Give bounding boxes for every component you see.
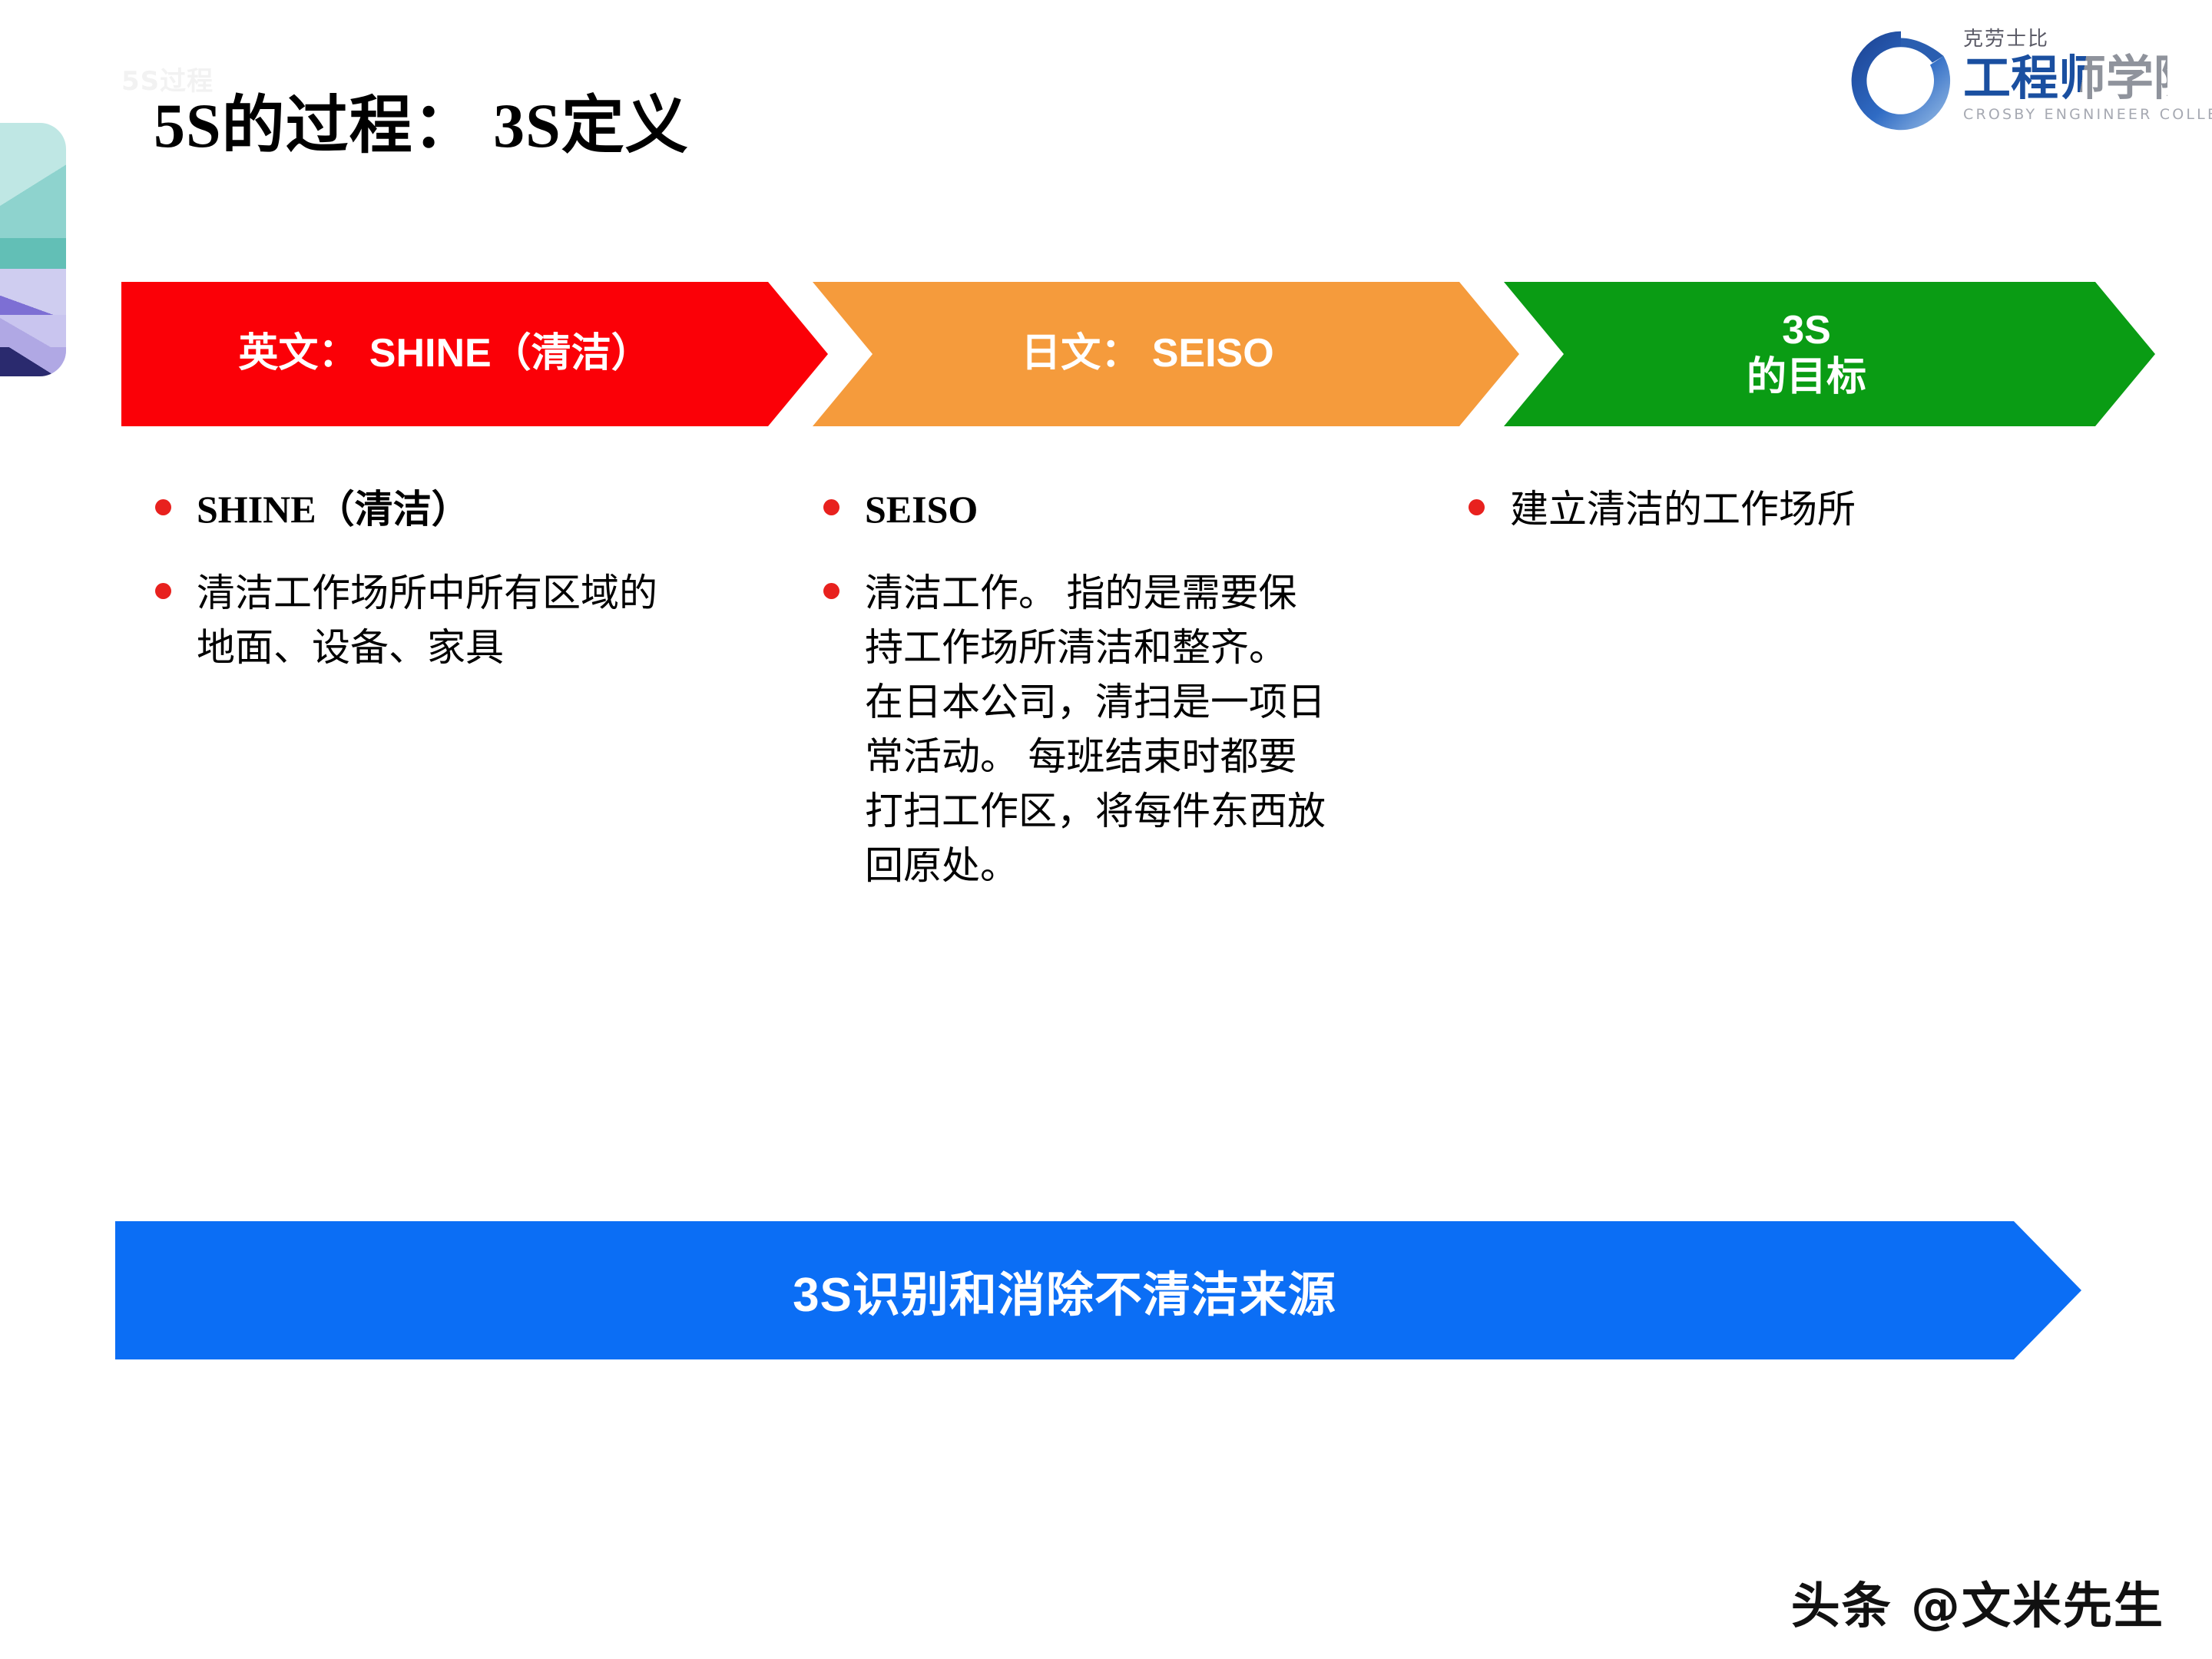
bullet-column-1: SHINE（清洁） 清洁工作场所中所有区域的 地面、设备、家具 — [144, 482, 759, 704]
chevron-step-1-label: 英文： SHINE（清洁） — [238, 330, 651, 377]
facet-shape — [0, 347, 66, 376]
logo-text-block: 克劳士比 工程师学院 CROSBY ENGNINEER COLLEGE — [1963, 23, 2167, 123]
chevron-step-1[interactable]: 英文： SHINE（清洁） — [121, 282, 828, 426]
bullet-text: 清洁工作场所中所有区域的 地面、设备、家具 — [197, 571, 657, 669]
logo-sub-line: CROSBY ENGNINEER COLLEGE — [1963, 106, 2167, 123]
list-item: 建立清洁的工作场所 — [1458, 482, 2088, 537]
page-title: 5S的过程： 3S定义 — [154, 74, 689, 165]
bullet-text: 建立清洁的工作场所 — [1510, 488, 1856, 531]
bullet-text: SEISO — [865, 488, 978, 531]
logo-top-line: 克劳士比 — [1963, 23, 2167, 51]
chevron-step-3[interactable]: 3S 的目标 — [1504, 282, 2155, 426]
list-item: SHINE（清洁） — [144, 482, 759, 537]
bottom-banner-label: 3S识别和消除不清洁来源 — [793, 1256, 1336, 1325]
bullet-column-2: SEISO 清洁工作。 指的是需要保 持工作场所清洁和整齐。 在日本公司，清扫是… — [813, 482, 1419, 922]
bullet-column-3: 建立清洁的工作场所 — [1458, 482, 2088, 566]
list-item: SEISO — [813, 482, 1419, 537]
bottom-blue-banner[interactable]: 3S识别和消除不清洁来源 — [115, 1221, 2081, 1359]
bullet-text: SHINE（清洁） — [197, 488, 470, 531]
crosby-swirl-icon — [1845, 25, 1957, 137]
slide-canvas: 5S过程 5S的过程： 3S定义 克劳士比 工程师学院 CROSBY ENGNI… — [0, 0, 2212, 1659]
chevron-process-row: 英文： SHINE（清洁） 日文： SEISO 3S 的目标 — [121, 282, 2155, 426]
brand-logo: 克劳士比 工程师学院 CROSBY ENGNINEER COLLEGE — [1845, 14, 2167, 144]
chevron-step-2[interactable]: 日文： SEISO — [813, 282, 1519, 426]
list-item: 清洁工作场所中所有区域的 地面、设备、家具 — [144, 566, 759, 675]
chevron-step-3-label: 3S 的目标 — [1747, 307, 1866, 402]
list-item: 清洁工作。 指的是需要保 持工作场所清洁和整齐。 在日本公司，清扫是一项日 常活… — [813, 566, 1419, 893]
corner-watermark: 头条 @文米先生 — [1791, 1567, 2164, 1637]
decorative-facet-bar — [0, 123, 66, 376]
chevron-step-2-label: 日文： SEISO — [1021, 330, 1273, 377]
logo-main-line: 工程师学院 — [1963, 53, 2167, 103]
bullet-text: 清洁工作。 指的是需要保 持工作场所清洁和整齐。 在日本公司，清扫是一项日 常活… — [865, 571, 1326, 887]
